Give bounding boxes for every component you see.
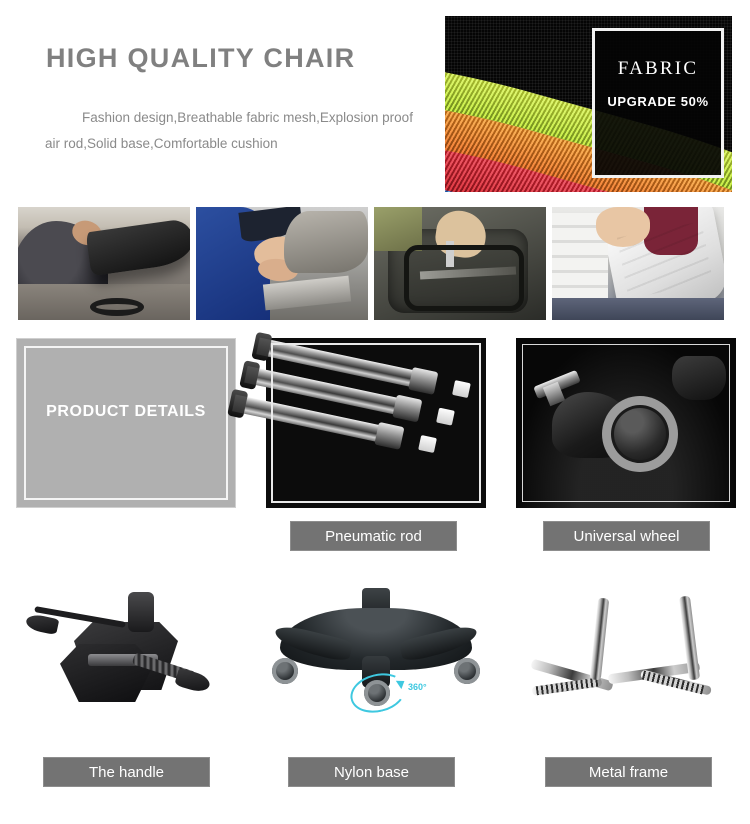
product-details-panel: PRODUCT DETAILS [16, 338, 236, 508]
metal-frame-tubes [516, 570, 736, 740]
label-universal-wheel: Universal wheel [543, 521, 710, 551]
photo2-hand-right [257, 257, 299, 283]
label-universal-wheel-text: Universal wheel [574, 528, 680, 545]
universal-wheel-frame [522, 344, 730, 502]
frame-tread-left [536, 678, 599, 696]
product-details-title: PRODUCT DETAILS [17, 403, 235, 421]
page-title: HIGH QUALITY CHAIR [46, 43, 355, 74]
photo4-worker-arm [596, 207, 650, 247]
factory-photo-foam-cushion-handling [552, 207, 724, 320]
frame-tube-upright-left [590, 598, 610, 681]
hero-section: HIGH QUALITY CHAIR Fashion design,Breath… [0, 0, 750, 200]
label-metal-frame: Metal frame [545, 757, 712, 787]
product-detail-page: HIGH QUALITY CHAIR Fashion design,Breath… [0, 0, 750, 824]
factory-photo-frame-mold-assembly [374, 207, 546, 320]
base-caster-left [272, 658, 298, 684]
fabric-callout-subtitle: UPGRADE 50% [595, 94, 721, 109]
the-handle-image [16, 570, 236, 740]
label-pneumatic-rod: Pneumatic rod [290, 521, 457, 551]
photo4-bench [552, 298, 724, 320]
universal-wheel-image [516, 338, 736, 508]
base-caster-right [454, 658, 480, 684]
photo3-rail [420, 266, 516, 279]
label-the-handle: The handle [43, 757, 210, 787]
photo1-part [90, 298, 144, 316]
fabric-banner-image: FABRIC UPGRADE 50% [445, 16, 732, 192]
photo4-worker-torso [644, 207, 698, 255]
label-metal-frame-text: Metal frame [589, 764, 668, 781]
fabric-callout-title: FABRIC [595, 58, 721, 80]
handle-bottom-plate [60, 644, 154, 702]
label-pneumatic-rod-text: Pneumatic rod [325, 528, 422, 545]
nylon-base-image: 360° [266, 570, 486, 740]
factory-photo-worker-assembling-chair-base [18, 207, 190, 320]
label-nylon-base: Nylon base [288, 757, 455, 787]
metal-frame-image [516, 570, 736, 740]
label-the-handle-text: The handle [89, 764, 164, 781]
panel-inner-border [24, 346, 228, 500]
pneumatic-rod-frame [271, 343, 481, 503]
photo3-hand [433, 208, 489, 261]
fabric-callout-box: FABRIC UPGRADE 50% [592, 28, 724, 178]
pneumatic-rod-image [266, 338, 486, 508]
rotation-arrow-icon [346, 668, 410, 718]
photo3-tool [446, 241, 454, 267]
page-subtitle: Fashion design,Breathable fabric mesh,Ex… [45, 105, 415, 157]
handle-lever-knob [25, 613, 60, 635]
photo3-machine-panel [374, 207, 422, 251]
photo2-needle [304, 229, 309, 263]
handle-cylinder-mount [128, 592, 154, 632]
factory-photo-strip [18, 207, 732, 320]
factory-photo-sewing-machine-operation [196, 207, 368, 320]
label-nylon-base-text: Nylon base [334, 764, 409, 781]
rotation-annotation-text: 360° [408, 682, 427, 692]
handle-tension-knob [174, 668, 212, 695]
photo1-worker-hand [69, 217, 105, 249]
